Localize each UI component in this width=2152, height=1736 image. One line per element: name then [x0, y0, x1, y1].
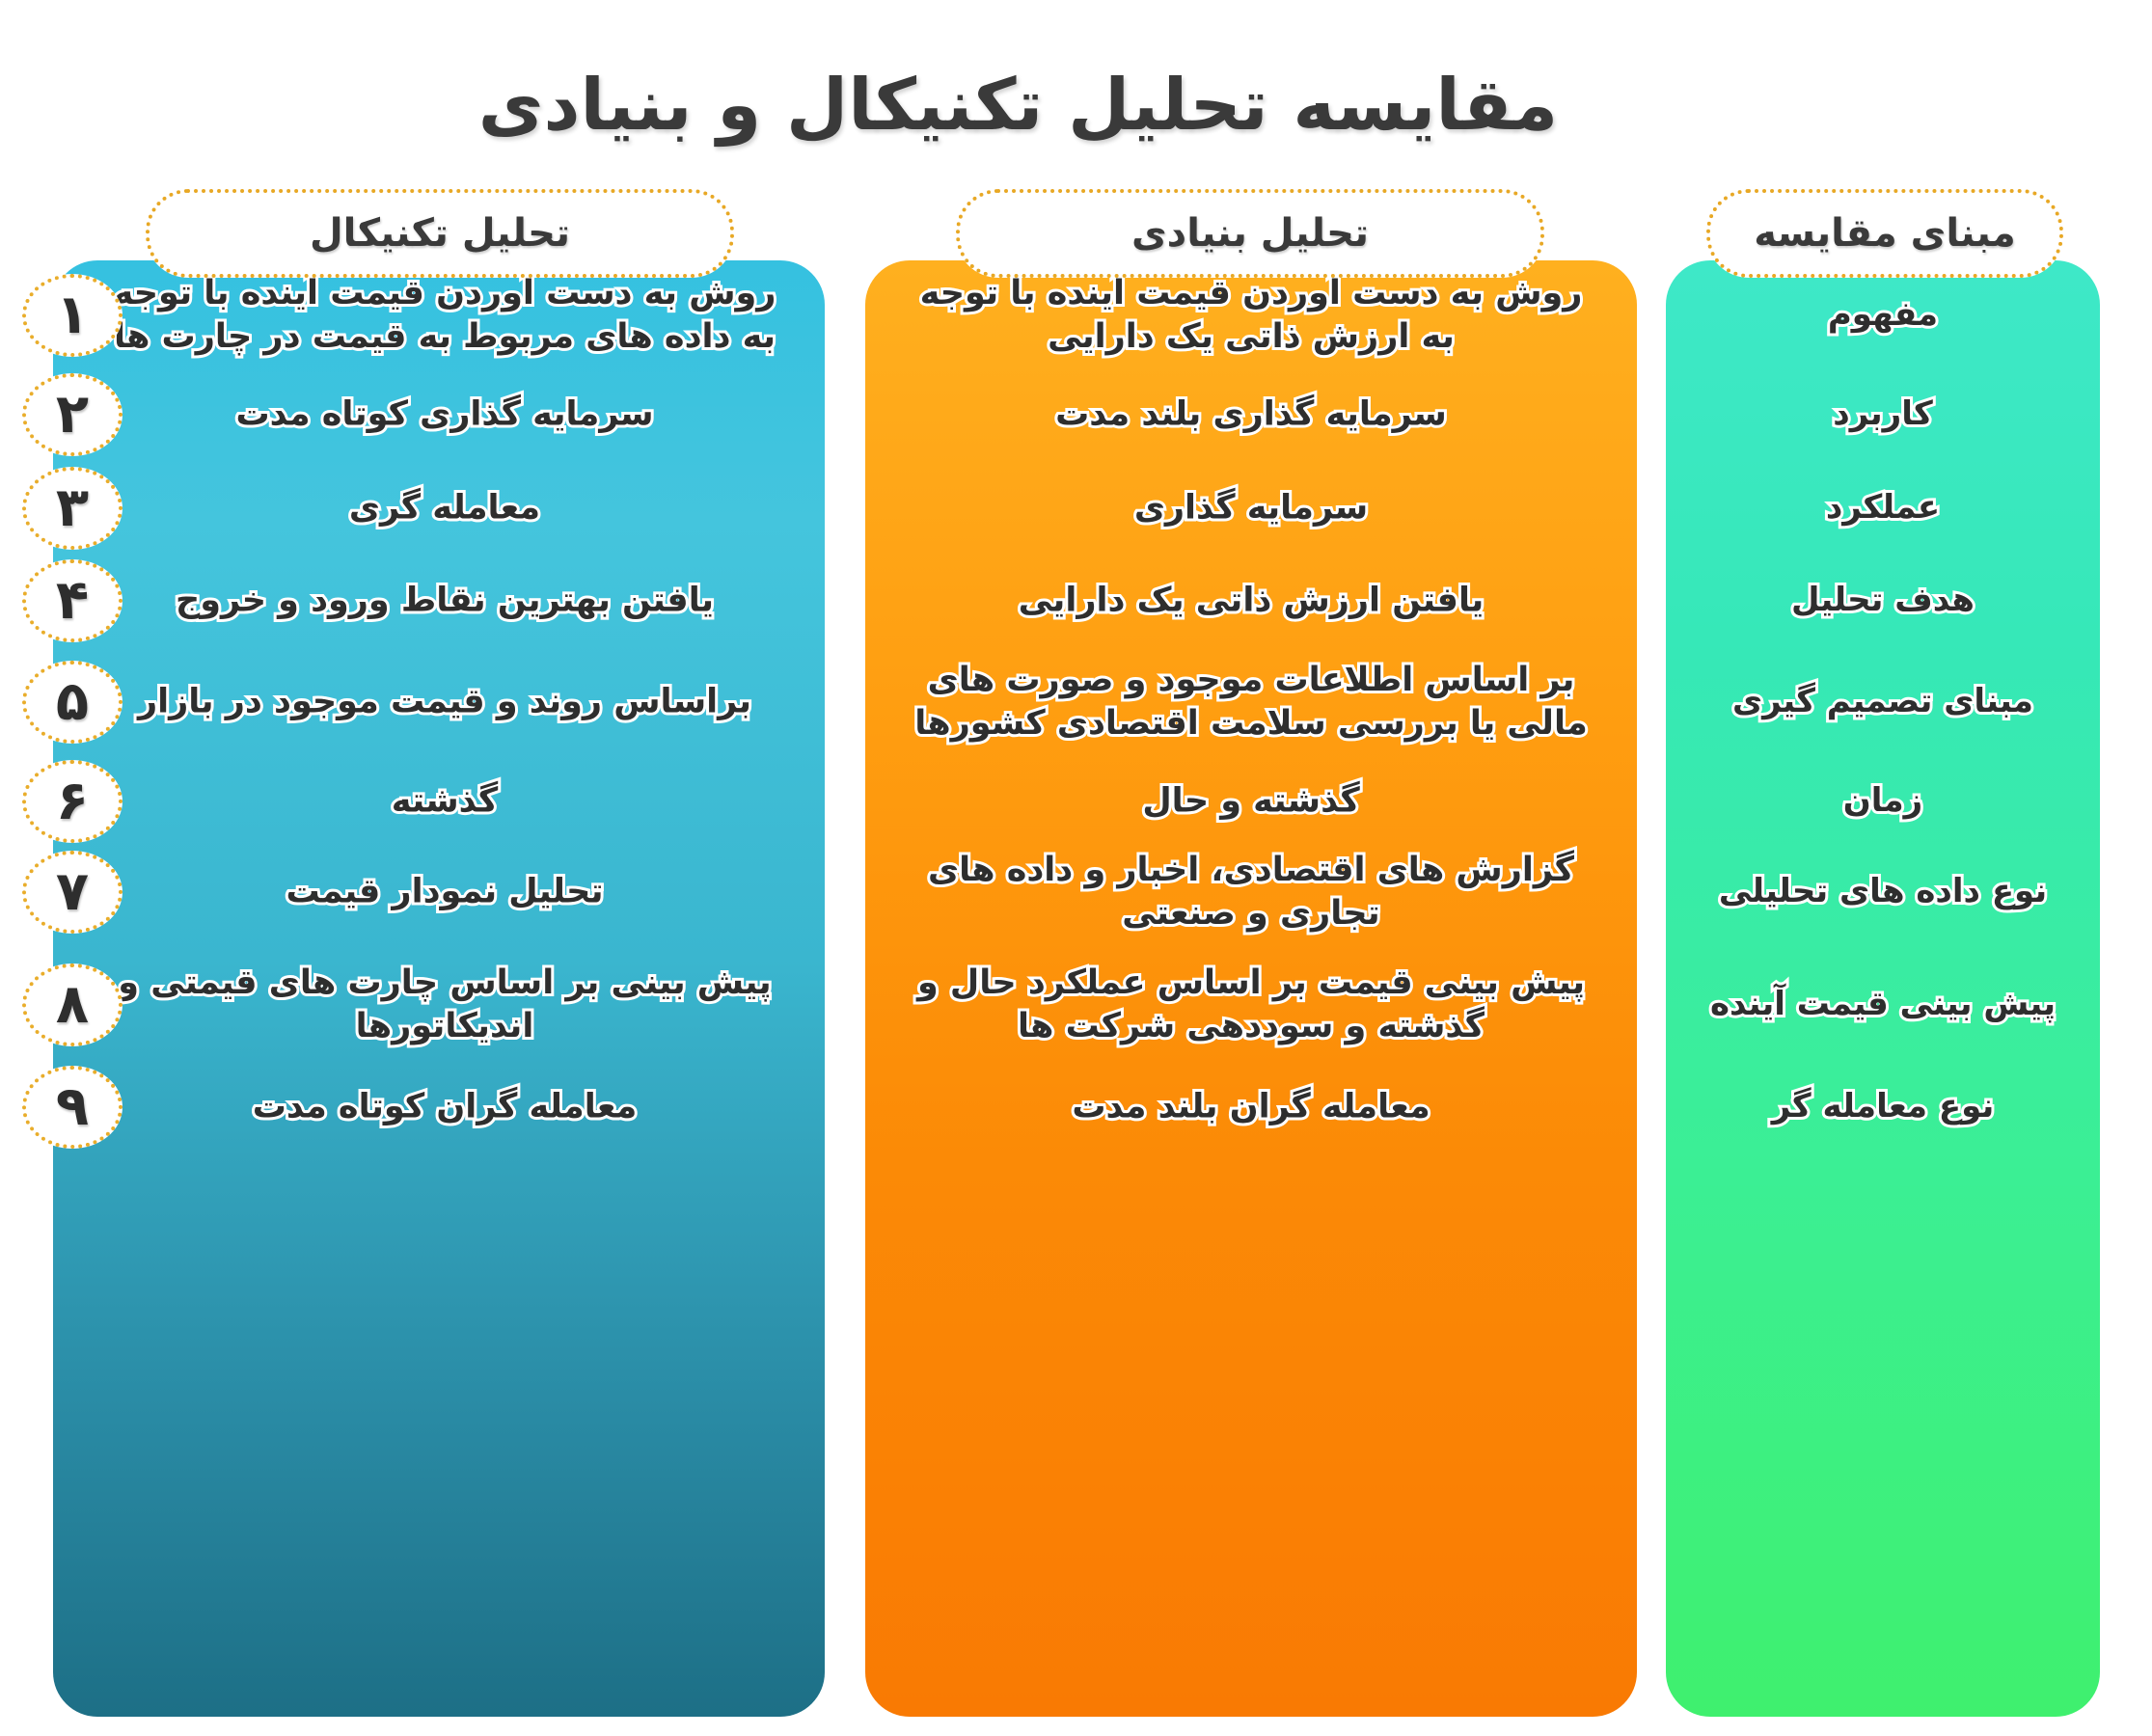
header-label-technical: تحلیل تکنیکال — [310, 211, 570, 256]
header-pill-fundamental: تحلیل بنیادی — [956, 189, 1544, 278]
header-pill-basis: مبنای مقایسه — [1706, 189, 2063, 278]
infographic-root: مقایسه تحلیل تکنیکال و بنیادی مبنای مقای… — [0, 0, 2152, 1733]
column-technical — [53, 260, 825, 1717]
columns-container — [0, 260, 2152, 1736]
column-fundamental — [865, 260, 1637, 1717]
page-title: مقایسه تحلیل تکنیکال و بنیادی — [0, 66, 2152, 146]
column-basis — [1666, 260, 2100, 1717]
header-pill-technical: تحلیل تکنیکال — [146, 189, 734, 278]
header-label-fundamental: تحلیل بنیادی — [1131, 211, 1369, 256]
header-label-basis: مبنای مقایسه — [1754, 211, 2016, 256]
